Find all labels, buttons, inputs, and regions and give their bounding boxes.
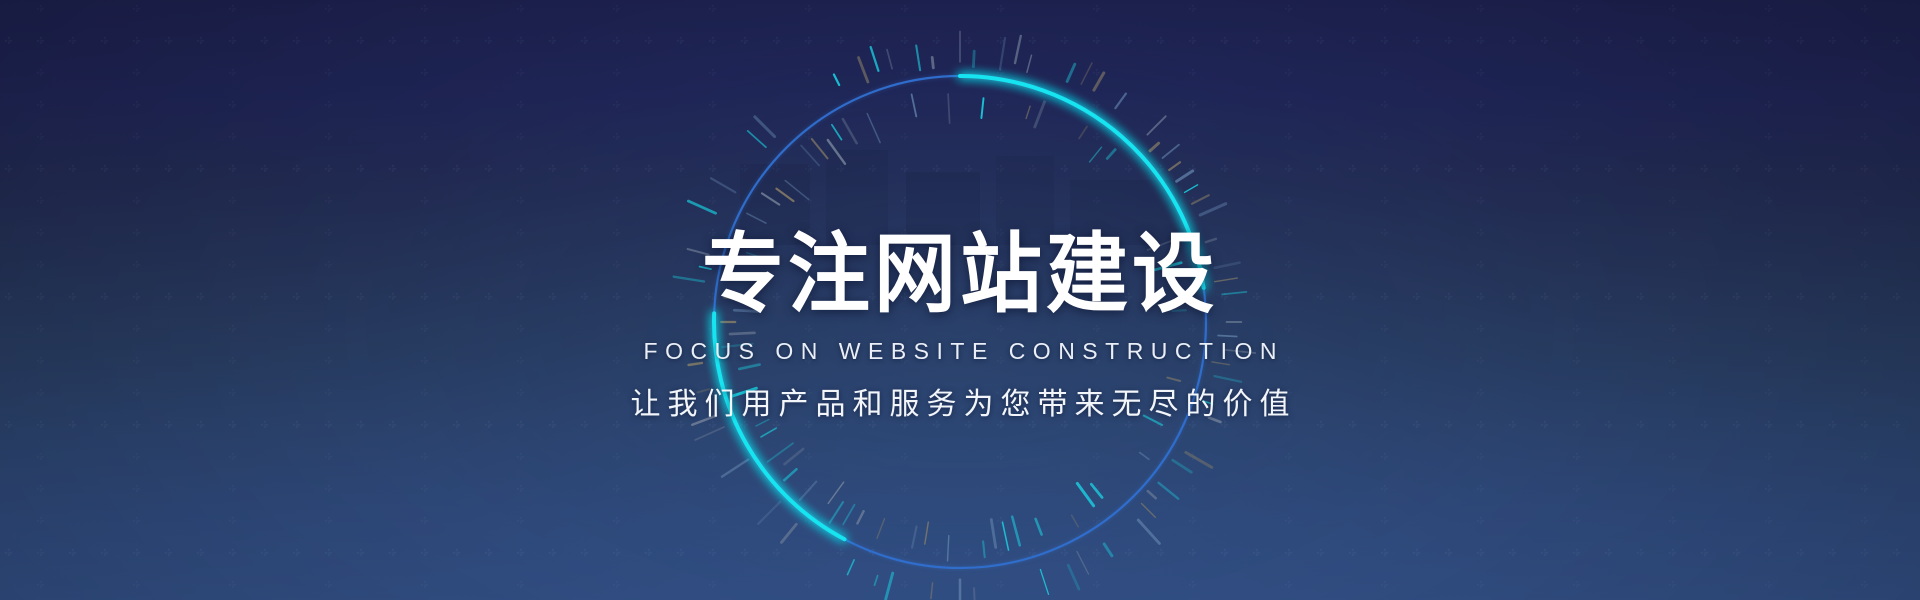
banner-subtitle-en: FOCUS ON WEBSITE CONSTRUCTION <box>636 340 1284 363</box>
banner-tagline-cn: 让我们用产品和服务为您带来无尽的价值 <box>624 390 1297 420</box>
banner-content: 专注网站建设 FOCUS ON WEBSITE CONSTRUCTION 让我们… <box>0 0 1920 600</box>
hero-banner: 专注网站建设 FOCUS ON WEBSITE CONSTRUCTION 让我们… <box>0 0 1920 600</box>
page-title: 专注网站建设 <box>702 232 1218 319</box>
